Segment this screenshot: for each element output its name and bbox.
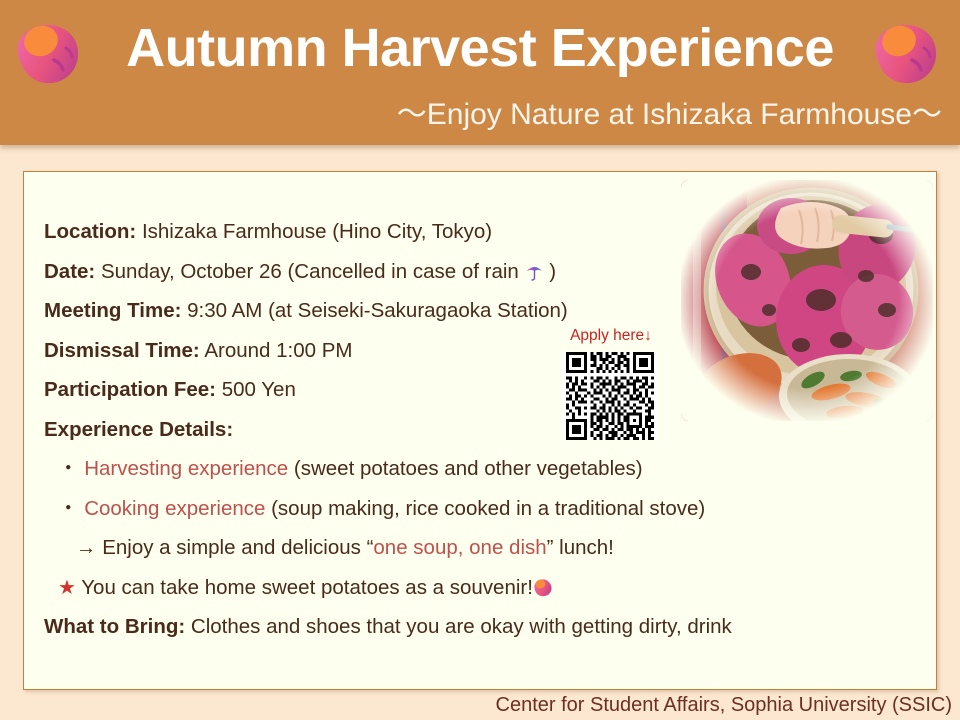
- footer-credit: Center for Student Affairs, Sophia Unive…: [0, 692, 960, 718]
- location-value: Ishizaka Farmhouse (Hino City, Tokyo): [142, 220, 492, 243]
- bullet-cooking: ・ Cooking experience (soup making, rice …: [44, 489, 924, 529]
- detail-row-location: Location: Ishizaka Farmhouse (Hino City,…: [44, 212, 924, 252]
- poster-subtitle: 〜Enjoy Nature at Ishizaka Farmhouse〜: [0, 96, 960, 134]
- sweet-potato-icon: [533, 572, 554, 593]
- poster-root: Autumn Harvest Experience 〜Enjoy Nature …: [0, 0, 960, 720]
- bullet-accent-text: Cooking experience: [84, 497, 265, 520]
- umbrella-icon: [525, 255, 544, 274]
- detail-row-dismissal-time: Dismissal Time: Around 1:00 PM: [44, 331, 924, 371]
- sweet-potato-icon: [872, 16, 946, 90]
- location-label: Location:: [44, 220, 136, 243]
- arrow-line: → Enjoy a simple and delicious “one soup…: [44, 528, 924, 568]
- bullet-marker: ・: [58, 497, 79, 520]
- meeting-time-label: Meeting Time:: [44, 299, 181, 322]
- bullet-rest-text: (soup making, rice cooked in a tradition…: [271, 497, 705, 520]
- star-icon: ★: [58, 577, 76, 599]
- bullet-harvesting: ・ Harvesting experience (sweet potatoes …: [44, 449, 924, 489]
- detail-row-date: Date: Sunday, October 26 (Cancelled in c…: [44, 252, 924, 292]
- detail-row-experience-heading: Experience Details:: [44, 410, 924, 450]
- star-line-text: You can take home sweet potatoes as a so…: [81, 576, 533, 599]
- participation-fee-label: Participation Fee:: [44, 378, 216, 401]
- detail-row-meeting-time: Meeting Time: 9:30 AM (at Seiseki-Sakura…: [44, 291, 924, 331]
- details-list: Location: Ishizaka Farmhouse (Hino City,…: [44, 212, 924, 647]
- arrow-line-after: ” lunch!: [547, 536, 614, 559]
- what-to-bring-value: Clothes and shoes that you are okay with…: [191, 615, 732, 638]
- detail-row-participation-fee: Participation Fee: 500 Yen: [44, 370, 924, 410]
- dismissal-time-label: Dismissal Time:: [44, 339, 200, 362]
- date-label: Date:: [44, 260, 95, 283]
- what-to-bring-label: What to Bring:: [44, 615, 185, 638]
- bullet-rest-text: (sweet potatoes and other vegetables): [294, 457, 643, 480]
- detail-row-what-to-bring: What to Bring: Clothes and shoes that yo…: [44, 607, 924, 647]
- experience-details-label: Experience Details:: [44, 418, 233, 441]
- star-line: ★ You can take home sweet potatoes as a …: [44, 568, 924, 608]
- participation-fee-value: 500 Yen: [222, 378, 296, 401]
- header-band: Autumn Harvest Experience 〜Enjoy Nature …: [0, 0, 960, 145]
- poster-title: Autumn Harvest Experience: [0, 14, 960, 82]
- apply-here-label: Apply here↓: [556, 326, 666, 346]
- arrow-icon: →: [76, 536, 97, 559]
- date-value: Sunday, October 26 (Cancelled in case of…: [101, 260, 519, 283]
- arrow-line-before: Enjoy a simple and delicious “: [102, 536, 373, 559]
- application-qr-code[interactable]: [562, 352, 658, 440]
- arrow-line-accent: one soup, one dish: [373, 536, 546, 559]
- date-value-after: ): [549, 260, 556, 283]
- bullet-accent-text: Harvesting experience: [84, 457, 288, 480]
- dismissal-time-value: Around 1:00 PM: [204, 339, 352, 362]
- meeting-time-value: 9:30 AM (at Seiseki-Sakuragaoka Station): [187, 299, 568, 322]
- bullet-marker: ・: [58, 457, 79, 480]
